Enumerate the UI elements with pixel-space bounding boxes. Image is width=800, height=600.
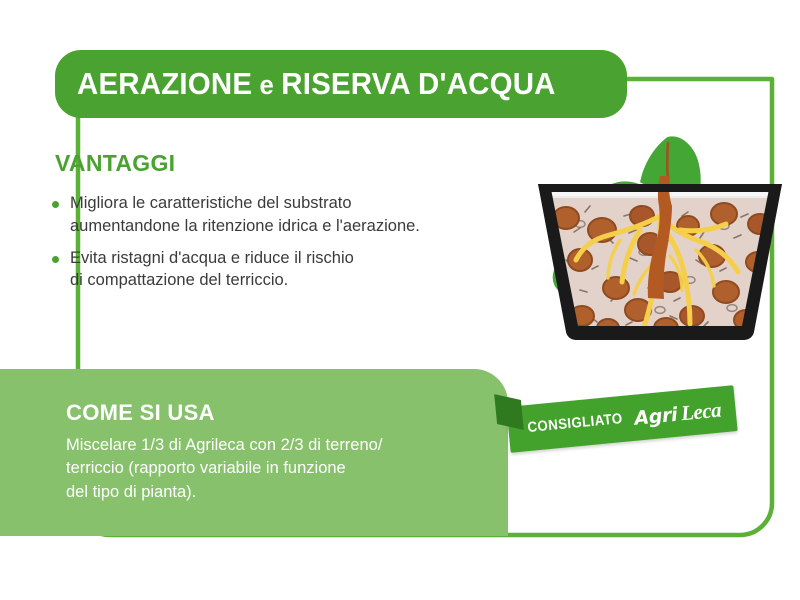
agri-leca-logo: Agri Leca [633,397,722,430]
usage-body: Miscelare 1/3 di Agrileca con 2/3 di ter… [66,434,476,504]
list-item: Migliora le caratteristiche del substrat… [52,192,492,238]
logo-agri-text: Agri [633,403,678,429]
benefits-heading: VANTAGGI [55,150,175,177]
ribbon-label: CONSIGLIATO [526,411,623,436]
ribbon-fold [494,394,524,430]
benefits-list: Migliora le caratteristiche del substrat… [52,192,492,301]
page-title: AERAZIONE e RISERVA D'ACQUA [77,66,556,102]
title-main: AERAZIONE [77,66,252,101]
plant-pot-illustration [520,120,800,550]
title-tail: RISERVA D'ACQUA [281,66,555,101]
bullet-dot-icon [52,201,59,208]
title-banner: AERAZIONE e RISERVA D'ACQUA [55,50,627,118]
title-conn: e [259,70,273,100]
infographic-card: CONSIGLIATO Agri Leca AERAZIONE e RISERV… [0,0,800,600]
benefit-text: Evita ristagni d'acqua e riduce il risch… [70,247,354,293]
logo-leca-text: Leca [680,397,722,426]
bullet-dot-icon [52,256,59,263]
benefit-text: Migliora le caratteristiche del substrat… [70,192,420,238]
recommended-ribbon: CONSIGLIATO Agri Leca [508,396,736,442]
list-item: Evita ristagni d'acqua e riduce il risch… [52,247,492,293]
usage-heading: COME SI USA [66,400,215,426]
